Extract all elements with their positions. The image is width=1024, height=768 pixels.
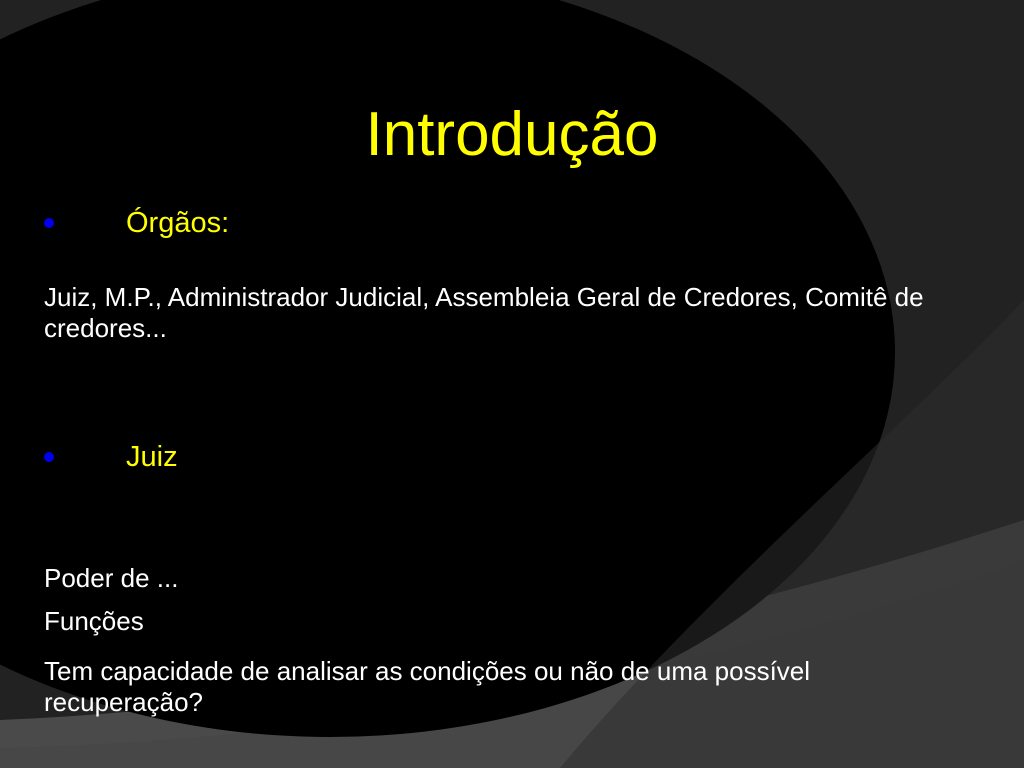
paragraph-capacidade: Tem capacidade de analisar as condições … [44,656,924,718]
round-bullet-icon [44,452,54,462]
bullet-label-juiz: Juiz [126,440,178,474]
slide-content: Introdução Órgãos: Juiz, M.P., Administr… [0,0,1024,768]
slide-title: Introdução [0,100,1024,170]
paragraph-funcoes: Funções [44,606,944,637]
bullet-item-juiz: Juiz [44,440,984,474]
presentation-slide: Introdução Órgãos: Juiz, M.P., Administr… [0,0,1024,768]
bullet-item-orgaos: Órgãos: [44,206,984,240]
bullet-label-orgaos: Órgãos: [126,206,229,240]
paragraph-poder: Poder de ... [44,563,944,594]
paragraph-orgaos-detail: Juiz, M.P., Administrador Judicial, Asse… [44,282,984,344]
round-bullet-icon [44,218,54,228]
